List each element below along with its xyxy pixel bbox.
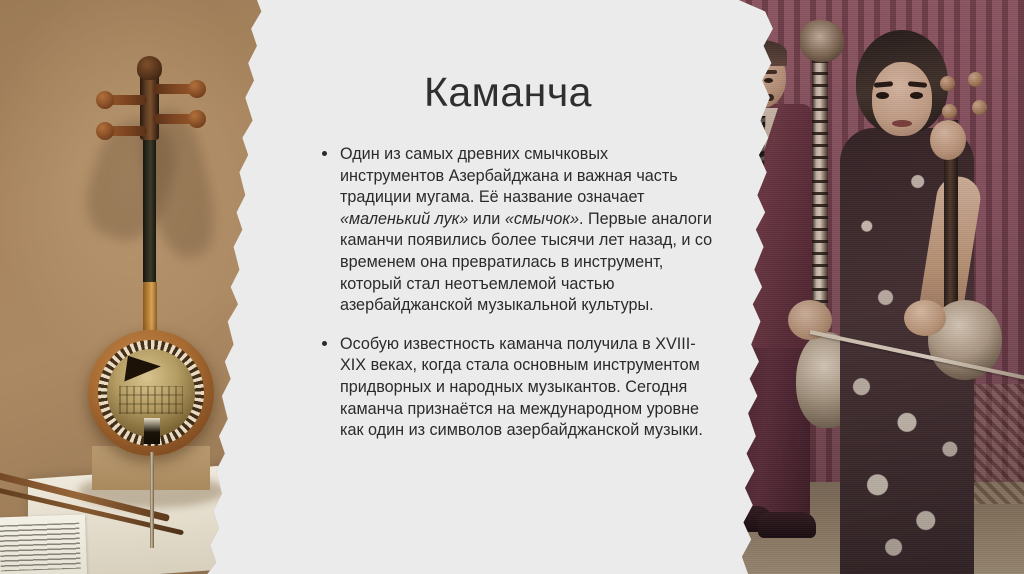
bullet-dot-icon [322,151,327,156]
kamancha-scroll [137,56,162,80]
kamancha-museum-display-photo [0,0,292,574]
kamancha-bowl-body [88,330,214,456]
page-title: Каманча [292,72,724,113]
tuning-peg-right-upper [153,84,199,94]
bullet-list: Один из самых древних смычковых инструме… [320,144,714,459]
tuning-peg-left-lower [103,126,147,136]
bowl-tailpiece [144,418,160,444]
list-item: Один из самых древних смычковых инструме… [320,144,714,317]
bullet-dot-icon [322,341,327,346]
photo-grain-overlay [714,0,1024,574]
list-item: Особую известность каманча получила в XV… [320,334,714,442]
tuning-peg-right-lower [153,114,199,124]
slide-content: Каманча Один из самых древних смычковых … [292,0,724,574]
bullet-text-2: Особую известность каманча получила в XV… [340,335,703,439]
bridge-shadow [124,356,161,386]
kamancha-neck-lower [143,282,157,334]
vintage-musicians-duo-photo [714,0,1024,574]
slide-canvas: Каманча Один из самых древних смычковых … [0,0,1024,574]
man-eye-left [742,78,751,83]
bullet-text-1: Один из самых древних смычковых инструме… [340,145,712,314]
museum-label-card [0,514,87,574]
tuning-peg-left-upper [103,95,147,105]
man-eyebrow-left [740,70,755,74]
kamancha-end-spike [150,452,154,548]
